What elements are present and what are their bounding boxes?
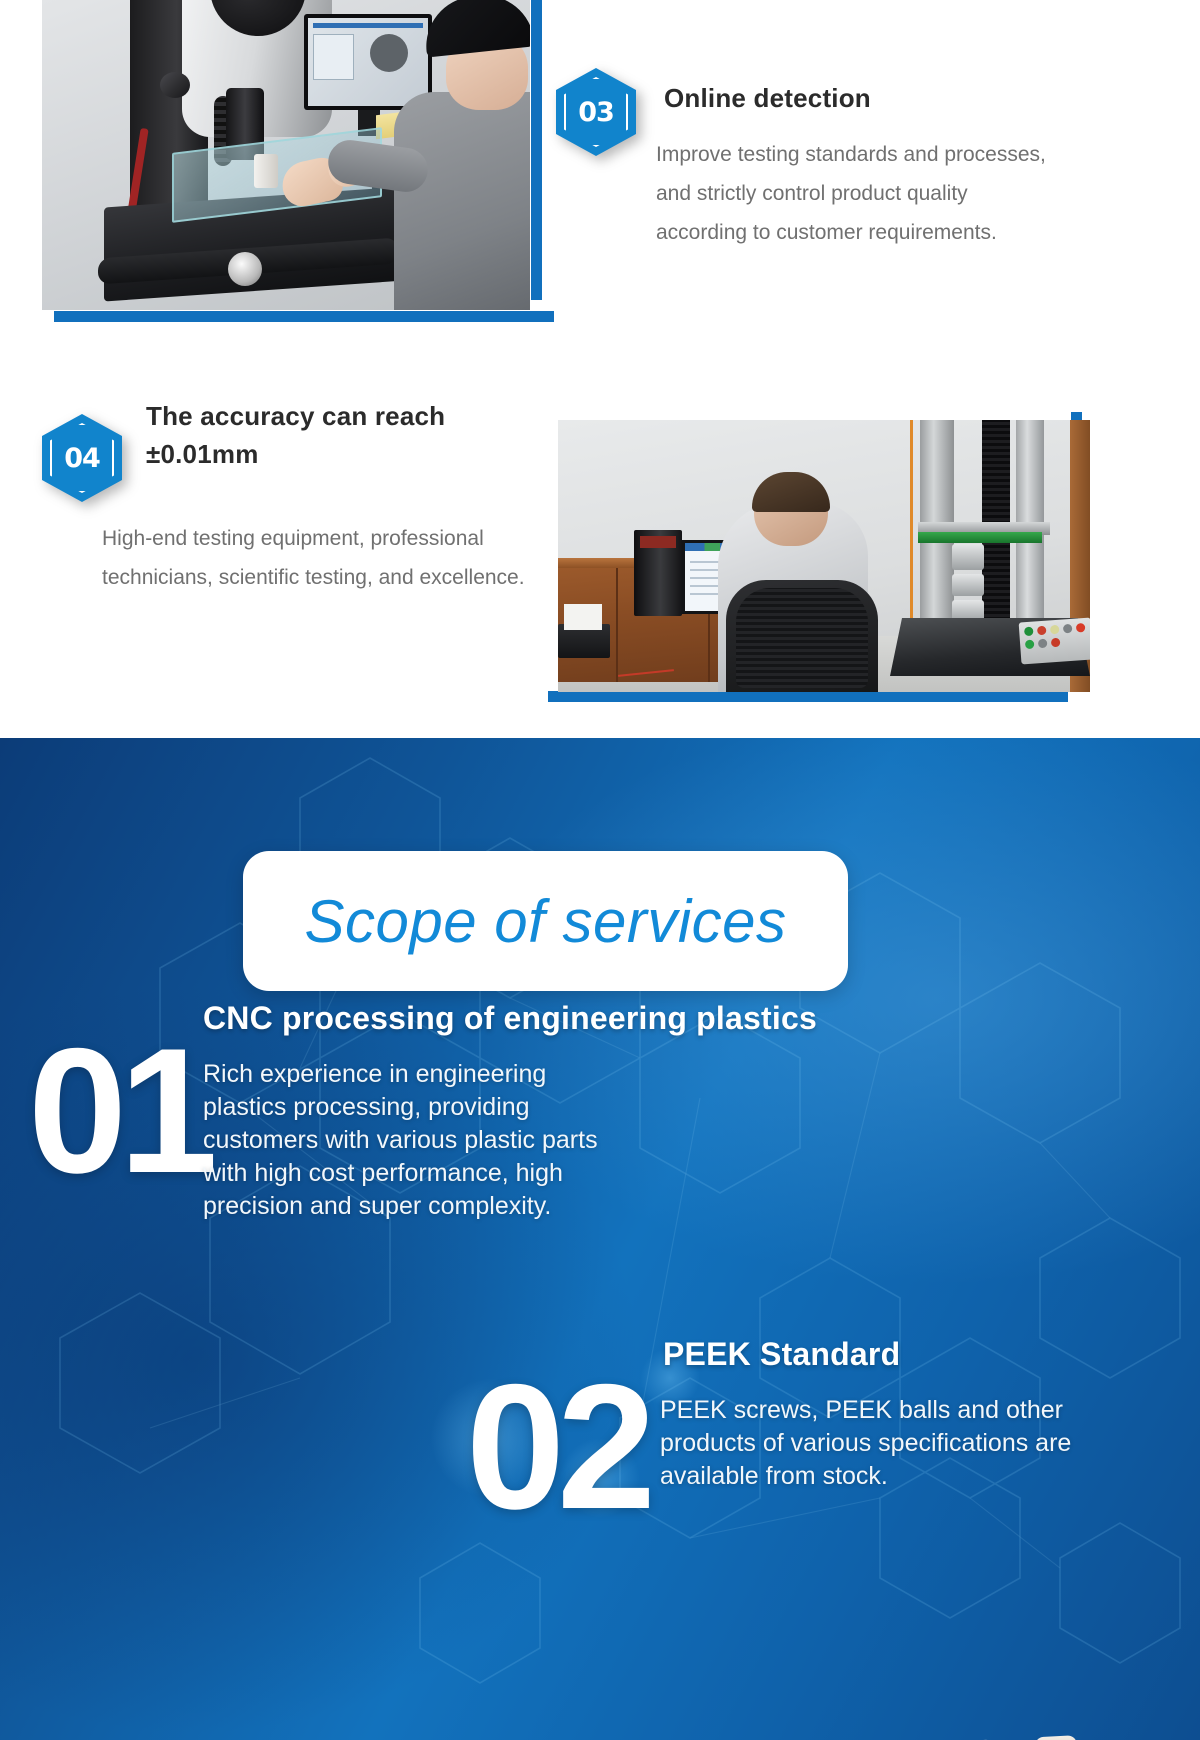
- service-title: PEEK Standard: [663, 1336, 1123, 1373]
- service-number: 01: [28, 1022, 210, 1200]
- feature-body: Improve testing standards and processes,…: [656, 136, 1056, 253]
- service-body: PEEK screws, PEEK balls and other produc…: [660, 1394, 1080, 1493]
- accuracy-photo-frame: [548, 372, 1088, 702]
- photo-accent-bottom-bar: [54, 311, 554, 322]
- badge-number: 04: [64, 443, 100, 474]
- online-detection-photo: [42, 0, 530, 310]
- accuracy-photo: [558, 420, 1090, 692]
- feature-title: The accuracy can reach ±0.01mm: [146, 398, 546, 473]
- scope-of-services-title-card: Scope of services: [243, 851, 848, 991]
- badge-number: 03: [578, 97, 614, 128]
- photo-accent-side-bar: [531, 0, 542, 300]
- service-number: 02: [466, 1358, 648, 1536]
- top-features-section: 03 Online detection Improve testing stan…: [0, 0, 1200, 738]
- scope-of-services-section: Scope of services: [0, 738, 1200, 1740]
- hexagon-badge-icon: 04: [42, 414, 122, 502]
- feature-title: Online detection: [664, 80, 871, 118]
- feature-body: High-end testing equipment, professional…: [102, 520, 572, 598]
- online-detection-photo-frame: [42, 0, 542, 330]
- service-title: CNC processing of engineering plastics: [203, 1000, 963, 1037]
- hexagon-badge-icon: 03: [556, 68, 636, 156]
- service-body: Rich experience in engineering plastics …: [203, 1058, 633, 1223]
- photo-accent-bottom-bar: [548, 691, 1068, 702]
- section-heading: Scope of services: [304, 887, 786, 956]
